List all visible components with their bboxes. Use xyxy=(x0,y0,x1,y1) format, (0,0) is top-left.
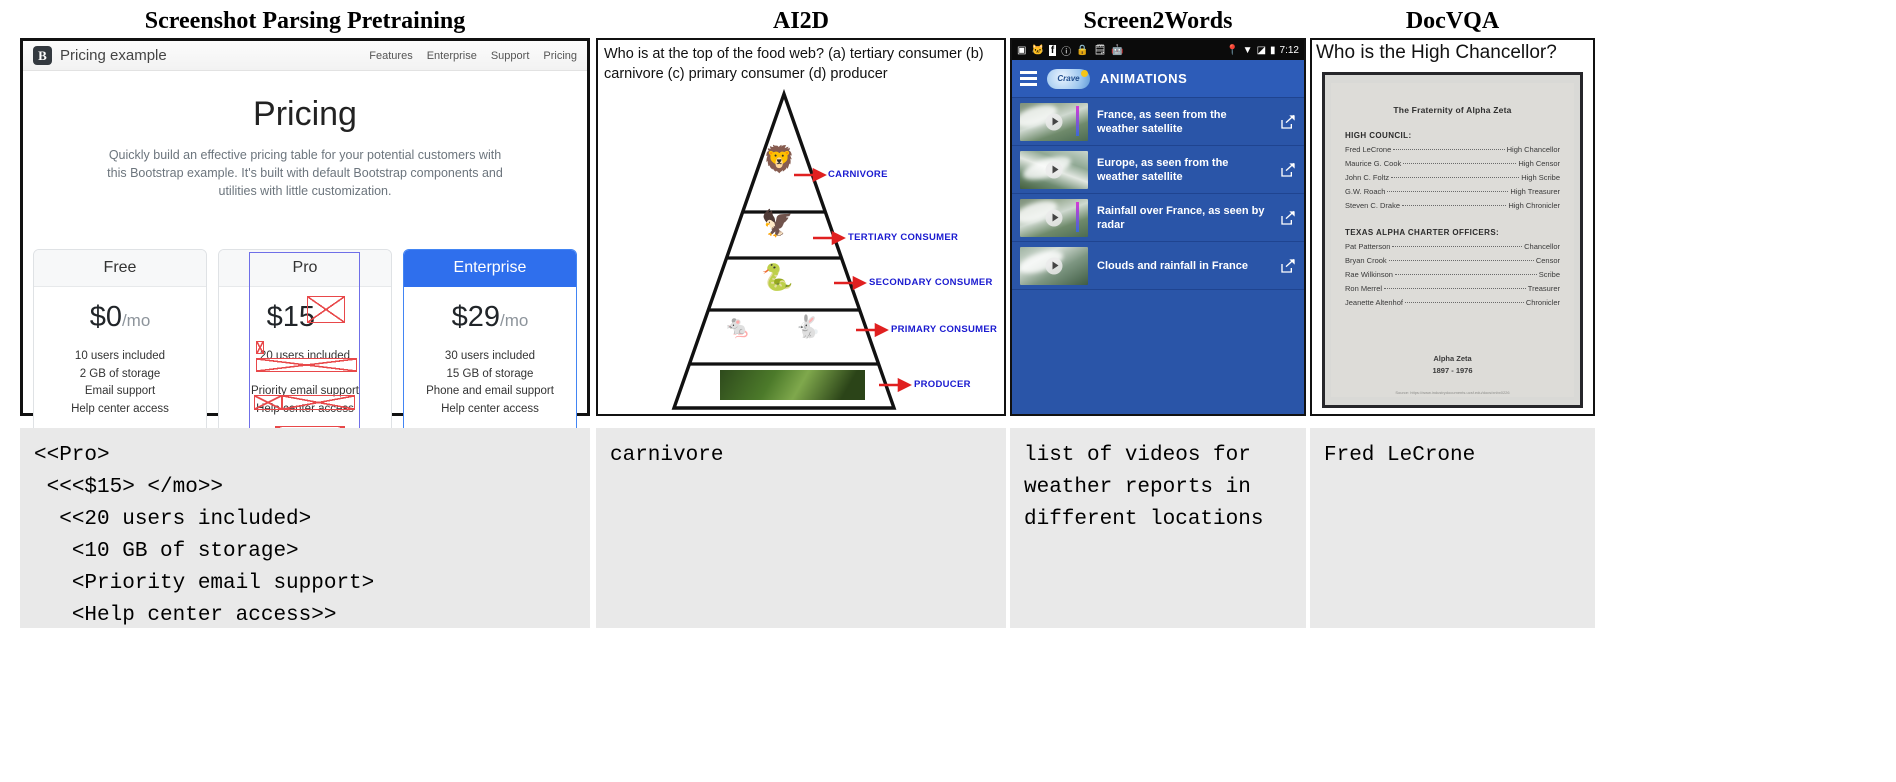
pricing-page-body: Pricing Quickly build an effective prici… xyxy=(23,71,587,413)
feature-item: 15 GB of storage xyxy=(414,366,566,384)
location-icon: 📍 xyxy=(1226,45,1238,56)
list-item[interactable]: Rainfall over France, as seen by radar xyxy=(1012,194,1304,242)
label-primary-consumer: PRIMARY CONSUMER xyxy=(891,324,997,335)
price-amount: $0 xyxy=(90,301,122,333)
pyramid-svg xyxy=(598,88,1008,414)
bootstrap-logo-icon: B xyxy=(33,46,52,65)
ai2d-screenshot-panel: Who is at the top of the food web? (a) t… xyxy=(596,38,1006,416)
officer-name: Maurice G. Cook xyxy=(1345,159,1401,168)
label-tertiary-consumer: TERTIARY CONSUMER xyxy=(848,232,958,243)
android-status-bar: ▣ 🐱 f ⓘ 🔒 🗒 🤖 📍 ▼ ◪ ▮ 7:12 xyxy=(1012,40,1304,60)
android-icon: 🤖 xyxy=(1111,45,1123,56)
play-icon[interactable] xyxy=(1046,257,1063,274)
docvqa-screenshot-panel: Who is the High Chancellor? The Fraterni… xyxy=(1310,38,1595,416)
footer-line-1: Alpha Zeta xyxy=(1331,353,1574,365)
column-title-screen2words: Screen2Words xyxy=(1010,8,1306,35)
list-item-label: Europe, as seen from the weather satelli… xyxy=(1097,156,1271,184)
scale-bar xyxy=(1076,202,1079,232)
officer-role: Censor xyxy=(1536,256,1560,265)
caption-screen2words: list of videos for weather reports in di… xyxy=(1010,428,1306,628)
dot-leader xyxy=(1395,274,1537,275)
play-icon[interactable] xyxy=(1046,161,1063,178)
section-heading-texas-alpha: TEXAS ALPHA CHARTER OFFICERS: xyxy=(1345,228,1560,237)
pricing-screenshot-panel: B Pricing example Features Enterprise Su… xyxy=(20,38,590,416)
officer-name: Fred LeCrone xyxy=(1345,145,1391,154)
dot-leader xyxy=(1392,246,1522,247)
table-row: Jeanette Altenhof Chronicler xyxy=(1345,298,1560,307)
table-row: John C. Foltz High Scribe xyxy=(1345,173,1560,182)
price-period: /mo xyxy=(122,311,150,330)
dot-leader xyxy=(1384,288,1526,289)
video-thumbnail[interactable] xyxy=(1020,151,1088,189)
card-price-enterprise: $29/mo xyxy=(414,301,566,334)
status-time: 7:12 xyxy=(1280,45,1299,56)
nav-link-support[interactable]: Support xyxy=(491,50,530,62)
list-item[interactable]: Europe, as seen from the weather satelli… xyxy=(1012,146,1304,194)
play-icon[interactable] xyxy=(1046,113,1063,130)
section-heading-high-council: HIGH COUNCIL: xyxy=(1345,131,1560,140)
lock-icon: 🔒 xyxy=(1076,45,1088,56)
list-item-label: Rainfall over France, as seen by radar xyxy=(1097,204,1271,232)
organism-eagle-icon: 🦅 xyxy=(761,210,793,236)
feature-item: 10 users included xyxy=(44,348,196,366)
officer-name: Steven C. Drake xyxy=(1345,201,1400,210)
list-item-label: France, as seen from the weather satelli… xyxy=(1097,108,1271,136)
info-icon: ⓘ xyxy=(1061,43,1071,58)
feature-item: Email support xyxy=(44,383,196,401)
organism-mouse-icon: 🐁 xyxy=(724,316,751,338)
figure-root: Screenshot Parsing Pretraining AI2D Scre… xyxy=(0,0,1896,782)
video-thumbnail[interactable] xyxy=(1020,103,1088,141)
officer-name: Rae Wilkinson xyxy=(1345,270,1393,279)
mask-price-period xyxy=(307,296,345,323)
dot-leader xyxy=(1391,177,1519,178)
logo-dot-icon xyxy=(1081,70,1088,77)
card-title-pro: Pro xyxy=(219,250,391,287)
card-price-free: $0/mo xyxy=(44,301,196,334)
officer-role: High Chronicler xyxy=(1508,201,1560,210)
column-title-spp: Screenshot Parsing Pretraining xyxy=(20,8,590,35)
navbar-links: Features Enterprise Support Pricing xyxy=(369,50,577,62)
signal-icon: ◪ xyxy=(1257,45,1266,56)
feature-item: Help center access xyxy=(414,401,566,419)
list-item-label: Clouds and rainfall in France xyxy=(1097,259,1271,273)
nav-link-enterprise[interactable]: Enterprise xyxy=(427,50,477,62)
navbar-brand[interactable]: Pricing example xyxy=(60,47,167,64)
feature-item: Phone and email support xyxy=(414,383,566,401)
facebook-icon: f xyxy=(1049,45,1056,56)
share-icon[interactable] xyxy=(1280,114,1296,130)
table-row: G.W. Roach High Treasurer xyxy=(1345,187,1560,196)
mask-users-digit xyxy=(256,341,264,354)
caption-ai2d: carnivore xyxy=(596,428,1006,628)
table-row: Maurice G. Cook High Censor xyxy=(1345,159,1560,168)
officer-name: Pat Patterson xyxy=(1345,242,1390,251)
officer-name: Bryan Crook xyxy=(1345,256,1387,265)
menu-icon[interactable] xyxy=(1020,71,1037,86)
table-row: Rae Wilkinson Scribe xyxy=(1345,270,1560,279)
mask-help-center-2 xyxy=(282,395,355,410)
dot-leader xyxy=(1402,205,1506,206)
status-right-group: 📍 ▼ ◪ ▮ 7:12 xyxy=(1226,45,1299,56)
officer-name: Jeanette Altenhof xyxy=(1345,298,1403,307)
screen2words-screenshot-panel: ▣ 🐱 f ⓘ 🔒 🗒 🤖 📍 ▼ ◪ ▮ 7:12 Crave xyxy=(1010,38,1306,416)
officer-role: Treasurer xyxy=(1528,284,1560,293)
document-title: The Fraternity of Alpha Zeta xyxy=(1345,105,1560,115)
card-title-free: Free xyxy=(34,250,206,287)
mask-storage-line xyxy=(256,358,357,372)
dot-leader xyxy=(1387,191,1508,192)
officer-name: G.W. Roach xyxy=(1345,187,1385,196)
card-title-enterprise: Enterprise xyxy=(404,250,576,287)
weather-crave-logo[interactable]: Crave xyxy=(1047,69,1090,89)
feature-item: 30 users included xyxy=(414,348,566,366)
officer-role: Chronicler xyxy=(1526,298,1560,307)
card-features-free: 10 users included 2 GB of storage Email … xyxy=(44,348,196,418)
share-icon[interactable] xyxy=(1280,258,1296,274)
organism-plants-image xyxy=(720,370,865,400)
dot-leader xyxy=(1405,302,1524,303)
caption-spp: <<Pro> <<<$15> </mo>> <<20 users include… xyxy=(20,428,590,628)
nav-link-features[interactable]: Features xyxy=(369,50,412,62)
organism-snake-icon: 🐍 xyxy=(761,264,793,290)
video-thumbnail[interactable] xyxy=(1020,199,1088,237)
wifi-icon: ▼ xyxy=(1243,45,1253,56)
officer-role: High Chancellor xyxy=(1507,145,1560,154)
docvqa-question: Who is the High Chancellor? xyxy=(1316,42,1589,68)
officer-role: High Censor xyxy=(1518,159,1560,168)
dot-leader xyxy=(1393,149,1504,150)
share-icon[interactable] xyxy=(1280,162,1296,178)
video-list: France, as seen from the weather satelli… xyxy=(1012,98,1304,414)
scale-bar xyxy=(1076,106,1079,136)
officer-role: High Treasurer xyxy=(1510,187,1560,196)
ai2d-question: Who is at the top of the food web? (a) t… xyxy=(604,44,998,84)
app-bar-title: ANIMATIONS xyxy=(1100,71,1187,86)
app-bar: Crave ANIMATIONS xyxy=(1012,60,1304,98)
share-icon[interactable] xyxy=(1280,210,1296,226)
logo-text: Crave xyxy=(1057,74,1079,83)
label-secondary-consumer: SECONDARY CONSUMER xyxy=(869,277,993,288)
label-carnivore: CARNIVORE xyxy=(828,169,888,180)
officer-role: High Scribe xyxy=(1521,173,1560,182)
organism-lion-icon: 🦁 xyxy=(763,146,795,172)
dot-leader xyxy=(1389,260,1534,261)
mobile-app-screen: ▣ 🐱 f ⓘ 🔒 🗒 🤖 📍 ▼ ◪ ▮ 7:12 Crave xyxy=(1012,40,1304,414)
column-title-ai2d: AI2D xyxy=(596,8,1006,35)
battery-icon: ▮ xyxy=(1270,45,1276,56)
video-thumbnail[interactable] xyxy=(1020,247,1088,285)
caption-docvqa: Fred LeCrone xyxy=(1310,428,1595,628)
list-item[interactable]: Clouds and rainfall in France xyxy=(1012,242,1304,290)
scanned-document: The Fraternity of Alpha Zeta HIGH COUNCI… xyxy=(1322,72,1583,408)
price-period: /mo xyxy=(500,311,528,330)
cat-icon: 🐱 xyxy=(1031,45,1043,56)
footer-line-2: 1897 - 1976 xyxy=(1331,365,1574,377)
page-title: Pricing xyxy=(23,95,587,134)
table-row: Bryan Crook Censor xyxy=(1345,256,1560,265)
table-row: Ron Merrel Treasurer xyxy=(1345,284,1560,293)
nav-link-pricing[interactable]: Pricing xyxy=(543,50,577,62)
feature-item: Help center access xyxy=(44,401,196,419)
officer-role: Scribe xyxy=(1539,270,1560,279)
document-footer: Alpha Zeta 1897 - 1976 xyxy=(1331,353,1574,377)
column-title-docvqa: DocVQA xyxy=(1310,8,1595,35)
organism-rabbit-icon: 🐇 xyxy=(794,316,821,338)
document-page: The Fraternity of Alpha Zeta HIGH COUNCI… xyxy=(1331,83,1574,397)
list-item[interactable]: France, as seen from the weather satelli… xyxy=(1012,98,1304,146)
table-row: Steven C. Drake High Chronicler xyxy=(1345,201,1560,210)
price-amount: $29 xyxy=(452,301,500,333)
officer-role: Chancellor xyxy=(1524,242,1560,251)
play-icon[interactable] xyxy=(1046,209,1063,226)
mask-help-center xyxy=(254,395,282,410)
dot-leader xyxy=(1403,163,1516,164)
sim-icon: ▣ xyxy=(1017,45,1026,56)
food-pyramid: 🦁 🦅 🐍 🐁 🐇 CARNIVORE TERTIARY CONSUMER SE… xyxy=(598,88,1004,410)
card-features-enterprise: 30 users included 15 GB of storage Phone… xyxy=(414,348,566,418)
browser-navbar: B Pricing example Features Enterprise Su… xyxy=(23,41,587,71)
officer-name: Ron Merrel xyxy=(1345,284,1382,293)
label-producer: PRODUCER xyxy=(914,379,971,390)
feature-item: 2 GB of storage xyxy=(44,366,196,384)
document-source-text: Source: https://www.industrydocuments.uc… xyxy=(1337,390,1568,395)
card-price-pro: $15/mo xyxy=(229,301,381,334)
officer-name: John C. Foltz xyxy=(1345,173,1389,182)
table-row: Pat Patterson Chancellor xyxy=(1345,242,1560,251)
page-lead: Quickly build an effective pricing table… xyxy=(102,146,508,200)
clipboard-icon: 🗒 xyxy=(1094,45,1107,56)
table-row: Fred LeCrone High Chancellor xyxy=(1345,145,1560,154)
